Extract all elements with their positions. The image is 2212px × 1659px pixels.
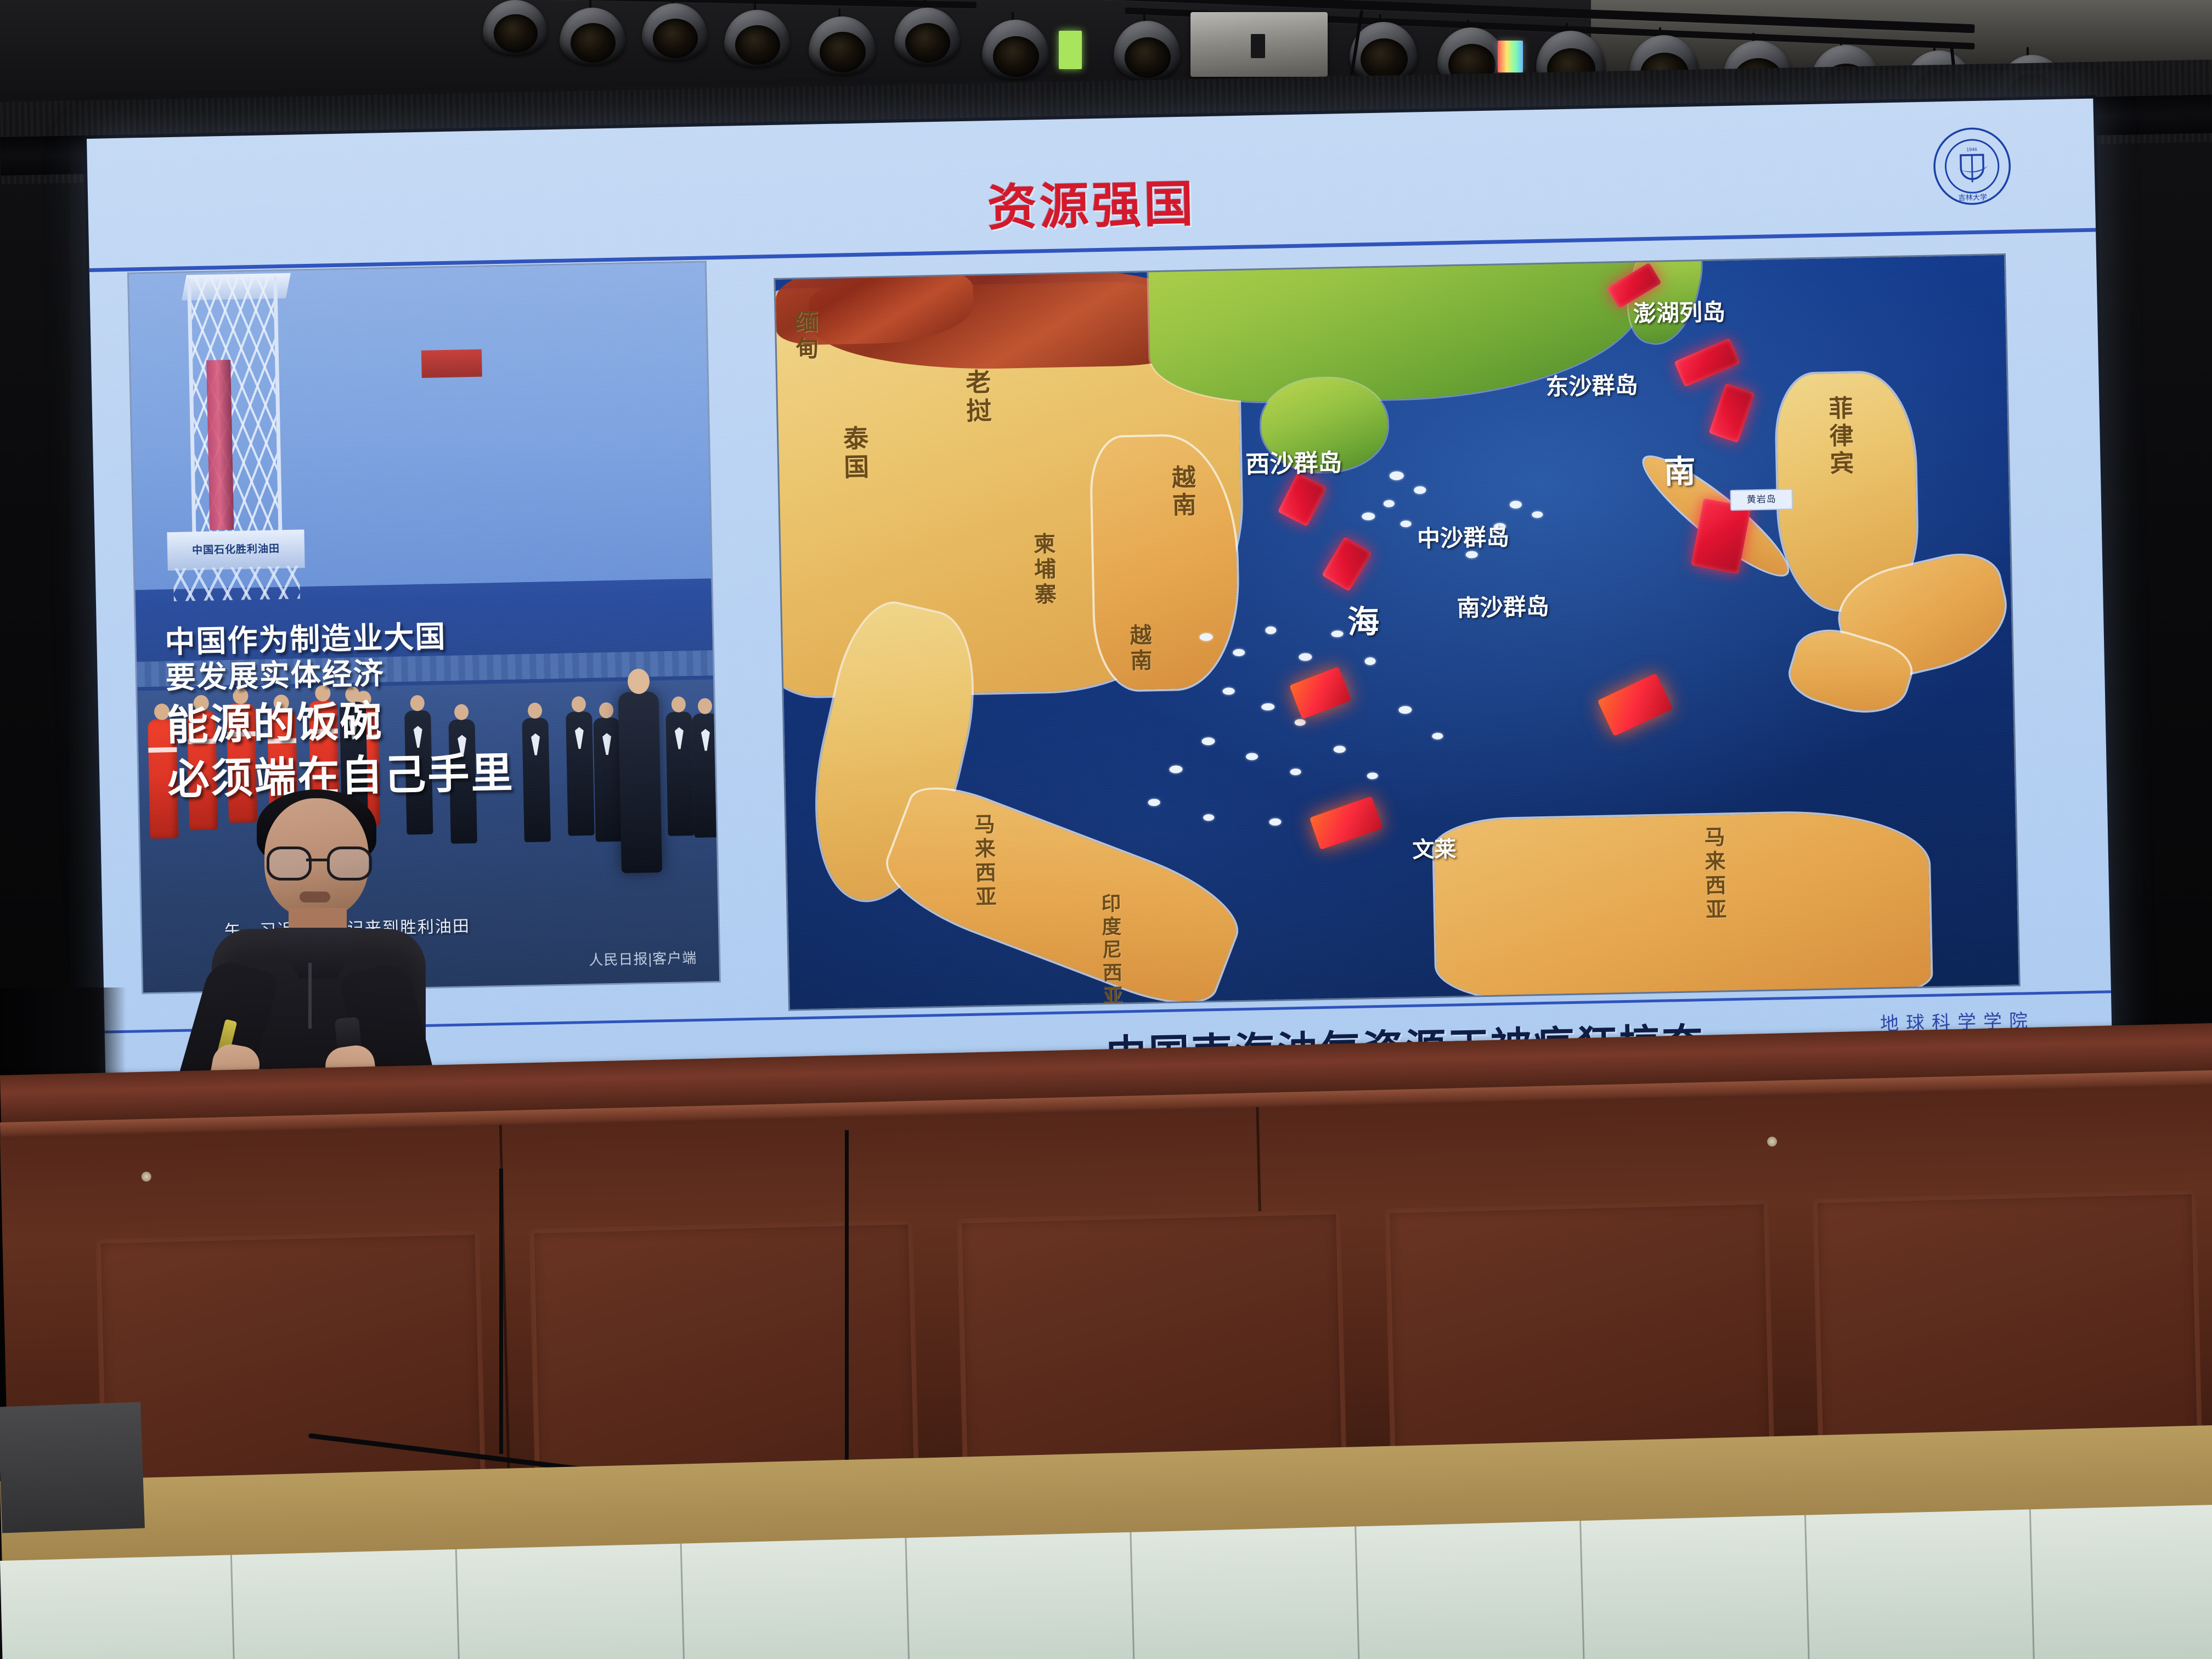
glasses-icon [267, 847, 366, 877]
map-label-dongsha: 东沙群岛 [1545, 366, 1638, 402]
overlay-line-3: 能源的饭碗 [166, 691, 694, 751]
map-label-myanmar: 缅甸 [788, 309, 823, 363]
jilin-university-logo: 1946 吉林大学 [1931, 126, 2013, 207]
map-label-sea-hai: 海 [1347, 596, 1380, 642]
map-label-brunei: 文莱 [1412, 831, 1457, 864]
map-label-thailand: 泰国 [836, 425, 873, 482]
map-label-penghu: 澎湖列岛 [1633, 294, 1725, 329]
lecture-hall-photo: 资源强国 1946 吉林大学 [0, 0, 2212, 1659]
ceiling-projector-box [1190, 12, 1328, 77]
south-china-sea-map: 缅甸 老挝 泰国 越南 柬埔寨 越南 马来西亚 印度尼西亚 菲律宾 马来西亚 文… [775, 255, 2018, 1009]
green-indicator-light [1059, 31, 1082, 69]
podium-lock [142, 1172, 151, 1182]
map-label-indonesia: 印度尼西亚 [1095, 893, 1126, 1008]
slide-title: 资源强国 [88, 146, 2096, 257]
map-label-vietnam-south: 越南 [1122, 623, 1155, 674]
map-label-sea-nan: 南 [1663, 445, 1696, 492]
svg-text:1946: 1946 [1966, 146, 1977, 152]
map-label-zhongsha: 中沙群岛 [1417, 518, 1509, 554]
rgb-indicator-light [1498, 41, 1523, 72]
presenter-mouth [300, 891, 330, 902]
map-label-xisha: 西沙群岛 [1245, 443, 1342, 480]
podium-lock [1767, 1137, 1777, 1147]
map-label-laos: 老挝 [958, 369, 996, 426]
floor-carpet [0, 1402, 145, 1533]
svg-text:吉林大学: 吉林大学 [1958, 193, 1987, 202]
map-label-cambodia: 柬埔寨 [1026, 532, 1060, 608]
map-label-huangyan: 黄岩岛 [1730, 489, 1793, 511]
official-attendee [692, 713, 719, 838]
photo-overlay-text: 中国作为制造业大国 要发展实体经济 能源的饭碗 必须端在自己手里 [165, 614, 695, 805]
polo-placket [308, 963, 312, 1029]
map-label-nansha: 南沙群岛 [1457, 588, 1549, 623]
map-label-philippines: 菲律宾 [1820, 395, 1857, 478]
photo-watermark: 人民日报|客户端 [589, 947, 697, 969]
borneo-island [1434, 811, 1931, 1002]
map-label-malaysia-east: 马来西亚 [1697, 826, 1730, 923]
map-label-malaysia-west: 马来西亚 [967, 813, 1000, 910]
map-label-vietnam: 越南 [1163, 464, 1199, 520]
